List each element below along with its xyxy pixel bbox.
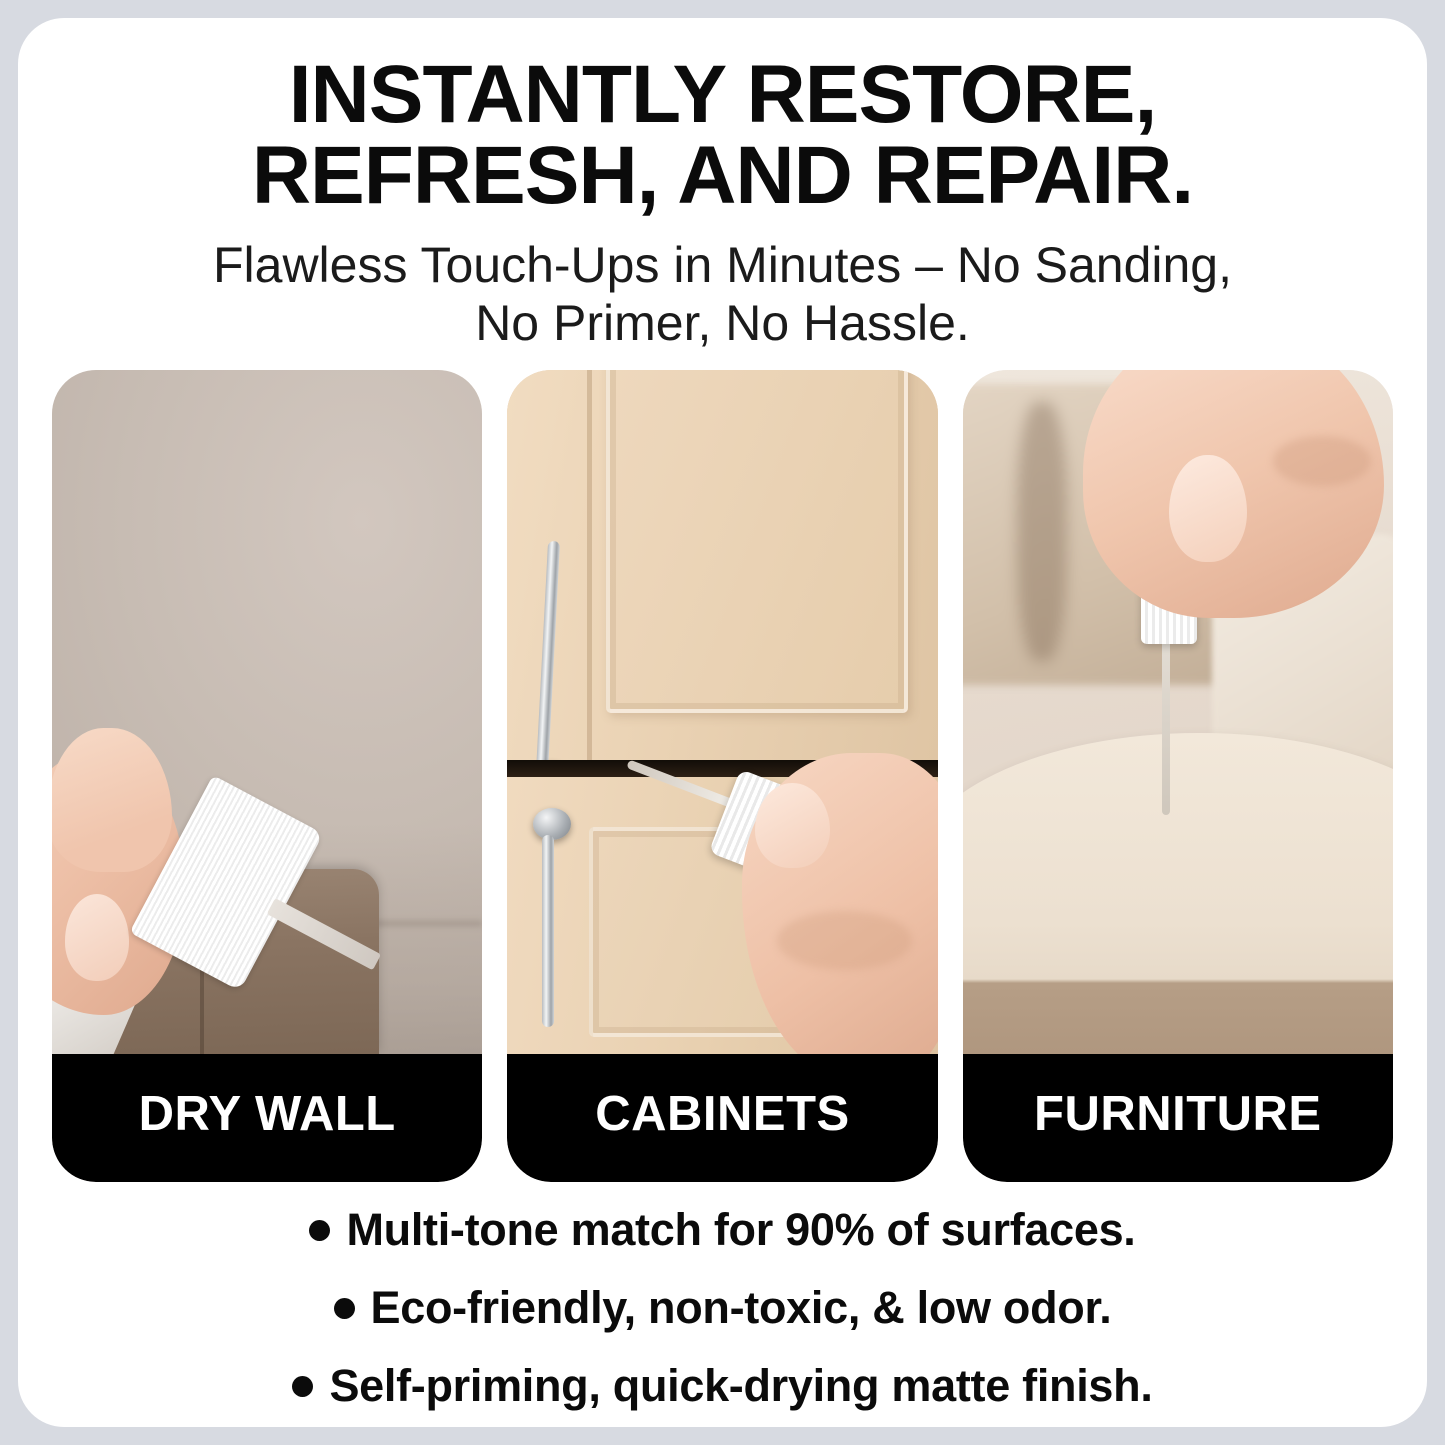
use-case-panels: DRY WALL	[52, 370, 1393, 1182]
cabinet-door-upper	[507, 370, 937, 760]
panel-label-bar-dry-wall: DRY WALL	[52, 1054, 482, 1182]
panel-label-cabinets: CABINETS	[595, 1086, 849, 1150]
header-block: INSTANTLY RESTORE, REFRESH, AND REPAIR. …	[18, 54, 1427, 352]
bullet-dot-icon	[292, 1376, 313, 1397]
bullet-text: Multi-tone match for 90% of surfaces.	[346, 1204, 1135, 1256]
list-item: Multi-tone match for 90% of surfaces.	[309, 1204, 1135, 1256]
bullet-dot-icon	[309, 1220, 330, 1241]
round-table-top	[963, 733, 1393, 1054]
cabinets-photo	[507, 370, 937, 1054]
hand-holding-applicator	[723, 753, 938, 1054]
list-item: Self-priming, quick-drying matte finish.	[292, 1360, 1152, 1412]
furniture-photo	[963, 370, 1393, 1054]
headline-line-2: REFRESH, AND REPAIR.	[18, 135, 1427, 216]
hand-holding-applicator	[1057, 370, 1384, 644]
page-title: INSTANTLY RESTORE, REFRESH, AND REPAIR.	[18, 54, 1427, 216]
door-panel-molding-upper	[606, 370, 907, 713]
thumb-nail	[65, 894, 130, 980]
panel-label-bar-cabinets: CABINETS	[507, 1054, 937, 1182]
panel-label-dry-wall: DRY WALL	[139, 1086, 396, 1150]
knuckle-shadow	[777, 911, 912, 970]
cabinet-knob-lower	[533, 808, 571, 840]
subhead-line-2: No Primer, No Hassle.	[18, 294, 1427, 352]
cabinet-handle-lower	[542, 835, 554, 1027]
bullet-dot-icon	[334, 1298, 355, 1319]
panel-label-furniture: FURNITURE	[1034, 1086, 1322, 1150]
applicator-needle-tip	[1162, 637, 1170, 815]
bullet-text: Eco-friendly, non-toxic, & low odor.	[371, 1282, 1112, 1334]
page-subtitle: Flawless Touch-Ups in Minutes – No Sandi…	[18, 236, 1427, 352]
thumb-nail	[755, 783, 830, 868]
door-stile	[587, 370, 592, 760]
index-finger	[52, 728, 172, 872]
thumb-nail	[1169, 455, 1247, 562]
feature-bullet-list: Multi-tone match for 90% of surfaces. Ec…	[18, 1204, 1427, 1412]
knuckle-shadow	[1273, 436, 1371, 486]
infographic-card: INSTANTLY RESTORE, REFRESH, AND REPAIR. …	[18, 18, 1427, 1427]
subhead-line-1: Flawless Touch-Ups in Minutes – No Sandi…	[213, 237, 1232, 293]
list-item: Eco-friendly, non-toxic, & low odor.	[334, 1282, 1112, 1334]
panel-cabinets[interactable]: CABINETS	[507, 370, 937, 1182]
panel-furniture[interactable]: FURNITURE	[963, 370, 1393, 1182]
panel-label-bar-furniture: FURNITURE	[963, 1054, 1393, 1182]
headline-line-1: INSTANTLY RESTORE,	[289, 49, 1156, 140]
bullet-text: Self-priming, quick-drying matte finish.	[329, 1360, 1152, 1412]
panel-dry-wall[interactable]: DRY WALL	[52, 370, 482, 1182]
dry-wall-photo	[52, 370, 482, 1054]
